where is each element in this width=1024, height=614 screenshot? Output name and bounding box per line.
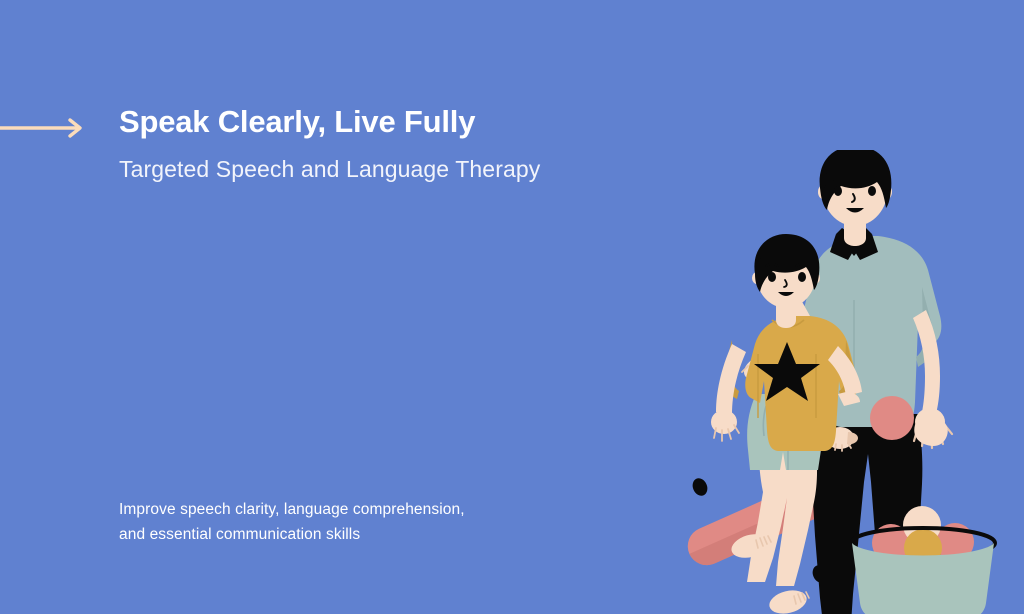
supporting-copy-line-2: and essential communication skills xyxy=(119,522,599,547)
arrow-right-icon xyxy=(0,118,88,138)
supporting-copy: Improve speech clarity, language compreh… xyxy=(119,497,599,547)
page-title: Speak Clearly, Live Fully xyxy=(119,104,679,140)
page-subtitle: Targeted Speech and Language Therapy xyxy=(119,140,679,184)
supporting-copy-line-1: Improve speech clarity, language compreh… xyxy=(119,497,599,522)
child-foot-front xyxy=(767,587,809,614)
adult-and-child-with-skateboard-illustration xyxy=(660,150,1024,614)
headline-group: Speak Clearly, Live Fully Targeted Speec… xyxy=(119,104,679,183)
speech-therapy-banner: Speak Clearly, Live Fully Targeted Speec… xyxy=(0,0,1024,614)
ball-basket xyxy=(851,506,995,614)
floating-ball xyxy=(870,396,914,440)
child-left-hand xyxy=(711,410,739,441)
